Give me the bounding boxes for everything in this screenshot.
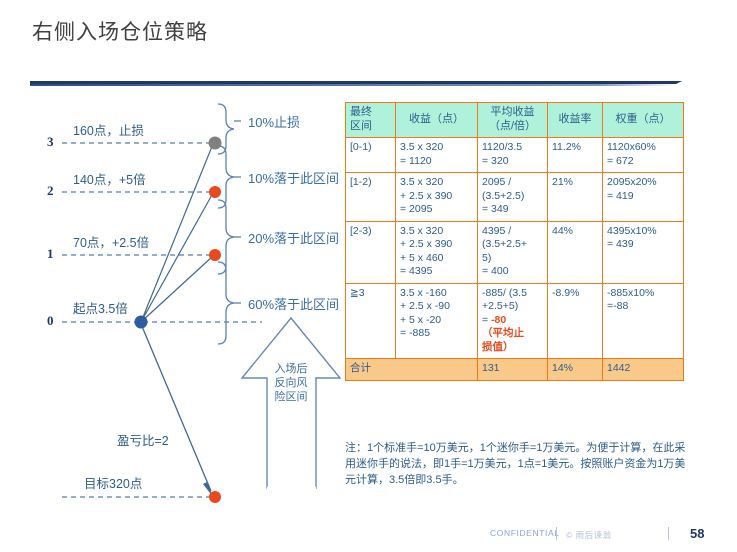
- table-total-row: 合计 131 14% 1442: [346, 359, 684, 381]
- level-number-2: 2: [47, 183, 54, 199]
- cell-weight: -885x10% =-88: [603, 283, 684, 359]
- cell-weight: 1120x60% = 672: [603, 138, 684, 173]
- table-footnote: 注：1个标准手=10万美元，1个迷你手=1万美元。为便于计算，在此采用迷你手的说…: [345, 440, 695, 488]
- copyright-label: © 雨后谏翁: [566, 529, 612, 541]
- table-row: [1-2) 3.5 x 320 + 2.5 x 390 = 2095 2095 …: [346, 173, 684, 222]
- risk-arrow-line-1: 入场后: [268, 362, 314, 376]
- bracket-label-stop-loss: 10%止损: [248, 112, 300, 131]
- risk-arrow-line-3: 险区间: [268, 390, 314, 404]
- page-title: 右侧入场仓位策略: [32, 16, 208, 46]
- table-row: [2-3) 3.5 x 320 + 2.5 x 390 + 5 x 460 = …: [346, 221, 684, 283]
- table-row: ≧3 3.5 x -160 + 2.5 x -90 + 5 x -20 = -8…: [346, 283, 684, 359]
- profit-calculation-table: 最终 区间 收益（点） 平均收益 （点/倍） 收益率 权重（点） [0-1) 3…: [345, 102, 684, 381]
- col-header-weight: 权重（点）: [603, 103, 684, 138]
- origin-dot: [135, 316, 148, 329]
- avg-stop-loss-note-1: （平均止: [482, 327, 543, 341]
- level1-dot: [209, 249, 221, 261]
- label-70-25x: 70点，+2.5倍: [73, 232, 149, 251]
- label-140-5x: 140点，+5倍: [73, 169, 146, 188]
- cell-rate: -8.9%: [548, 283, 603, 359]
- cell-interval: [2-3): [346, 221, 396, 283]
- level-number-1: 1: [47, 246, 54, 262]
- cell-interval: [1-2): [346, 173, 396, 222]
- table-header-row: 最终 区间 收益（点） 平均收益 （点/倍） 收益率 权重（点）: [346, 103, 684, 138]
- cell-rate: 21%: [548, 173, 603, 222]
- level-number-0: 0: [47, 313, 54, 329]
- stop-loss-dot: [209, 137, 222, 150]
- level-number-3: 3: [47, 134, 54, 150]
- col-header-interval: 最终 区间: [346, 103, 396, 138]
- col-header-profit: 收益（点）: [396, 103, 478, 138]
- cell-weight: 2095x20% = 419: [603, 173, 684, 222]
- confidential-label: CONFIDENTIAL: [490, 528, 560, 538]
- cell-avg-profit: 4395 / (3.5+2.5+ 5) = 400: [478, 221, 548, 283]
- cell-profit: 3.5 x -160 + 2.5 x -90 + 5 x -20 = -885: [396, 283, 478, 359]
- cell-avg-profit: 2095 / (3.5+2.5) = 349: [478, 173, 548, 222]
- target-dot: [209, 491, 221, 503]
- footer-separator-1: [556, 527, 557, 540]
- avg-stop-loss-value: -80: [491, 314, 506, 326]
- position-strategy-diagram: 3 2 1 0 160点，止损 140点，+5倍 70点，+2.5倍 起点3.5…: [0, 90, 345, 520]
- page-number: 58: [690, 526, 704, 541]
- avg-stop-loss-note-2: 损值）: [482, 341, 543, 355]
- footer-separator-2: [668, 527, 669, 540]
- bracket-label-60pct: 60%落于此区间: [248, 294, 339, 313]
- label-target-320: 目标320点: [84, 473, 142, 492]
- cell-weight: 4395x10% = 439: [603, 221, 684, 283]
- cell-interval: [0-1): [346, 138, 396, 173]
- cell-interval: ≧3: [346, 283, 396, 359]
- cell-total-avg-profit: 131: [478, 359, 548, 381]
- cell-rate: 44%: [548, 221, 603, 283]
- cell-rate: 11.2%: [548, 138, 603, 173]
- label-origin-35x: 起点3.5倍: [73, 298, 128, 317]
- col-header-avg-profit: 平均收益 （点/倍）: [478, 103, 548, 138]
- cell-profit: 3.5 x 320 + 2.5 x 390 + 5 x 460 = 4395: [396, 221, 478, 283]
- cell-avg-profit: -885/ (3.5 +2.5+5) = -80 （平均止 损值）: [478, 283, 548, 359]
- col-header-rate: 收益率: [548, 103, 603, 138]
- bracket-label-10pct: 10%落于此区间: [248, 168, 339, 187]
- title-divider: [30, 80, 682, 87]
- cell-avg-profit: 1120/3.5 = 320: [478, 138, 548, 173]
- cell-total-rate: 14%: [548, 359, 603, 381]
- label-profit-loss-ratio: 盈亏比=2: [117, 430, 169, 449]
- title-divider-bar-gradient: [30, 84, 675, 86]
- cell-total-weight: 1442: [603, 359, 684, 381]
- cell-profit: 3.5 x 320 + 2.5 x 390 = 2095: [396, 173, 478, 222]
- label-stop-loss-160: 160点，止损: [73, 120, 144, 139]
- slide-footer: CONFIDENTIAL © 雨后谏翁 58: [0, 518, 737, 552]
- cell-profit: 3.5 x 320 = 1120: [396, 138, 478, 173]
- bracket-label-20pct: 20%落于此区间: [248, 228, 339, 247]
- level2-dot: [209, 186, 221, 198]
- risk-arrow-line-2: 反向风: [268, 376, 314, 390]
- table-row: [0-1) 3.5 x 320 = 1120 1120/3.5 = 320 11…: [346, 138, 684, 173]
- cell-total-label: 合计: [346, 359, 478, 381]
